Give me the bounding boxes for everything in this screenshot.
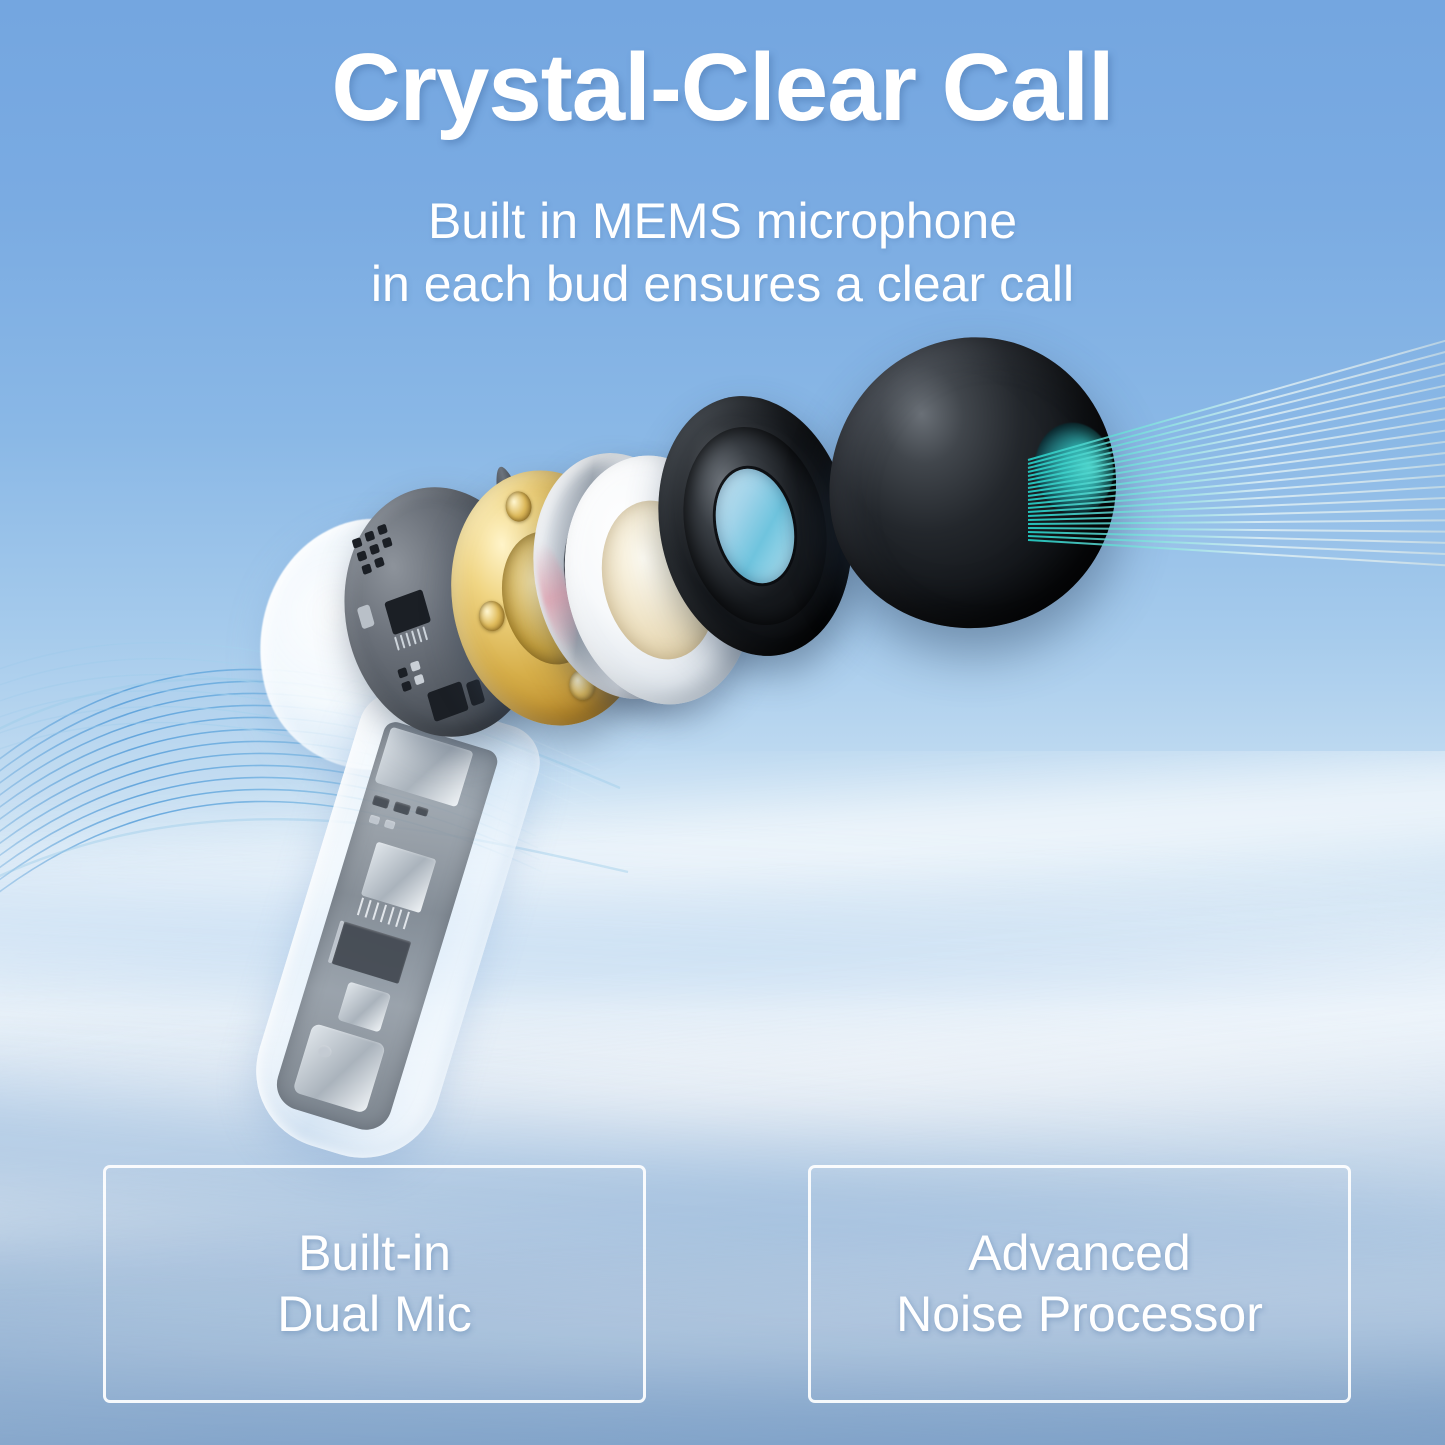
feature-label-line-2: Dual Mic [277, 1284, 471, 1345]
feature-box-row: Built-in Dual Mic Advanced Noise Process… [0, 1165, 1445, 1405]
sound-beam-icon [1020, 300, 1445, 640]
feature-box-advanced-noise-processor[interactable]: Advanced Noise Processor [808, 1165, 1351, 1403]
subtitle-line-1: Built in MEMS microphone [0, 190, 1445, 253]
subtitle-line-2: in each bud ensures a clear call [0, 253, 1445, 316]
page-title: Crystal-Clear Call [0, 38, 1445, 139]
product-feature-banner: Crystal-Clear Call Built in MEMS microph… [0, 0, 1445, 1445]
feature-label-line-1: Built-in [277, 1223, 471, 1284]
feature-box-built-in-dual-mic[interactable]: Built-in Dual Mic [103, 1165, 646, 1403]
feature-label-line-1: Advanced [896, 1223, 1263, 1284]
sound-wave-ribbon-icon [0, 520, 860, 980]
page-subtitle: Built in MEMS microphone in each bud ens… [0, 190, 1445, 316]
feature-label-line-2: Noise Processor [896, 1284, 1263, 1345]
